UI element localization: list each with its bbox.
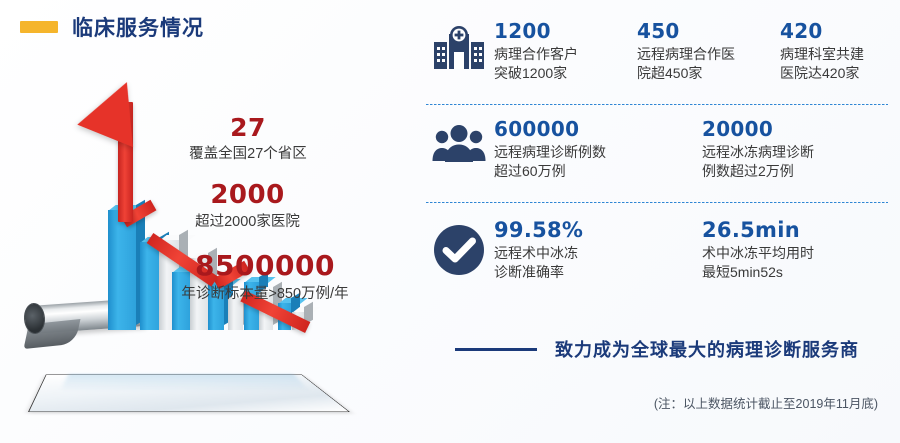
left-stat-2-desc: 年诊断标本量>850万例/年 <box>150 285 380 303</box>
stat-cell-accuracy-desc: 远程术中冰冻诊断准确率 <box>494 244 694 282</box>
tagline-text: 致力成为全球最大的病理诊断服务商 <box>555 336 859 362</box>
stat-cell-600000-desc: 远程病理诊断例数超过60万例 <box>494 143 694 181</box>
left-stat-0-number: 27 <box>148 115 348 140</box>
stat-cell-duration-desc: 术中冰冻平均用时最短5min52s <box>702 244 900 282</box>
infographic-page: 临床服务情况 <box>0 0 900 443</box>
left-stat-1-number: 2000 <box>140 182 355 208</box>
arrow-head-icon <box>77 71 154 147</box>
left-stat-0: 27 覆盖全国27个省区 <box>148 115 348 163</box>
stat-cell-accuracy-number: 99.58% <box>494 218 694 242</box>
stat-cell-duration-number: 26.5min <box>702 218 900 242</box>
stat-cell-accuracy: 99.58% 远程术中冰冻诊断准确率 <box>494 218 702 282</box>
stat-cell-450-desc: 远程病理合作医院超450家 <box>637 45 772 83</box>
stats-row-hospitals: 1200 病理合作客户突破1200家 450 远程病理合作医院超450家 420… <box>424 20 892 102</box>
stat-cell-420-number: 420 <box>780 20 900 43</box>
tagline-rule <box>455 348 537 351</box>
stat-cell-450: 450 远程病理合作医院超450家 <box>637 20 780 83</box>
title-accent-bar <box>20 21 58 33</box>
left-stat-1-desc: 超过2000家医院 <box>140 213 355 231</box>
stat-cell-600000: 600000 远程病理诊断例数超过60万例 <box>494 118 702 181</box>
stat-cell-1200: 1200 病理合作客户突破1200家 <box>494 20 637 83</box>
stat-cell-1200-desc: 病理合作客户突破1200家 <box>494 45 629 83</box>
stats-row-hospitals-cells: 1200 病理合作客户突破1200家 450 远程病理合作医院超450家 420… <box>494 20 900 83</box>
footnote: (注：以上数据统计截止至2019年11月底) <box>654 393 878 412</box>
stat-cell-450-number: 450 <box>637 20 772 43</box>
left-stat-2: 8500000 年诊断标本量>850万例/年 <box>150 252 380 303</box>
stats-row-cases-cells: 600000 远程病理诊断例数超过60万例 20000 远程冰冻病理诊断例数超过… <box>494 118 900 181</box>
stats-row-accuracy: 99.58% 远程术中冰冻诊断准确率 26.5min 术中冰冻平均用时最短5mi… <box>424 218 892 298</box>
stat-cell-duration: 26.5min 术中冰冻平均用时最短5min52s <box>702 218 900 282</box>
stats-row-cases: 600000 远程病理诊断例数超过60万例 20000 远程冰冻病理诊断例数超过… <box>424 118 892 200</box>
page-header: 临床服务情况 <box>20 12 204 42</box>
left-stat-1: 2000 超过2000家医院 <box>140 182 355 231</box>
chart-illustration: 27 覆盖全国27个省区 2000 超过2000家医院 8500000 年诊断标… <box>0 60 420 443</box>
stat-cell-420: 420 病理科室共建医院达420家 <box>780 20 900 83</box>
check-circle-icon <box>424 218 494 276</box>
hospital-building-icon <box>424 20 494 72</box>
stats-row-accuracy-cells: 99.58% 远程术中冰冻诊断准确率 26.5min 术中冰冻平均用时最短5mi… <box>494 218 900 282</box>
row-divider-2 <box>426 202 888 203</box>
people-group-icon <box>424 118 494 164</box>
left-stat-0-desc: 覆盖全国27个省区 <box>148 145 348 163</box>
stat-cell-420-desc: 病理科室共建医院达420家 <box>780 45 900 83</box>
stat-cell-20000-number: 20000 <box>702 118 900 141</box>
stat-cell-20000-desc: 远程冰冻病理诊断例数超过2万例 <box>702 143 900 181</box>
bar-blue-1 <box>108 210 136 330</box>
page-title: 临床服务情况 <box>72 12 204 42</box>
stat-cell-20000: 20000 远程冰冻病理诊断例数超过2万例 <box>702 118 900 181</box>
row-divider-1 <box>426 104 888 105</box>
stat-cell-1200-number: 1200 <box>494 20 629 43</box>
stat-cell-600000-number: 600000 <box>494 118 694 141</box>
tagline: 致力成为全球最大的病理诊断服务商 <box>455 336 859 362</box>
left-stat-2-number: 8500000 <box>150 252 380 280</box>
